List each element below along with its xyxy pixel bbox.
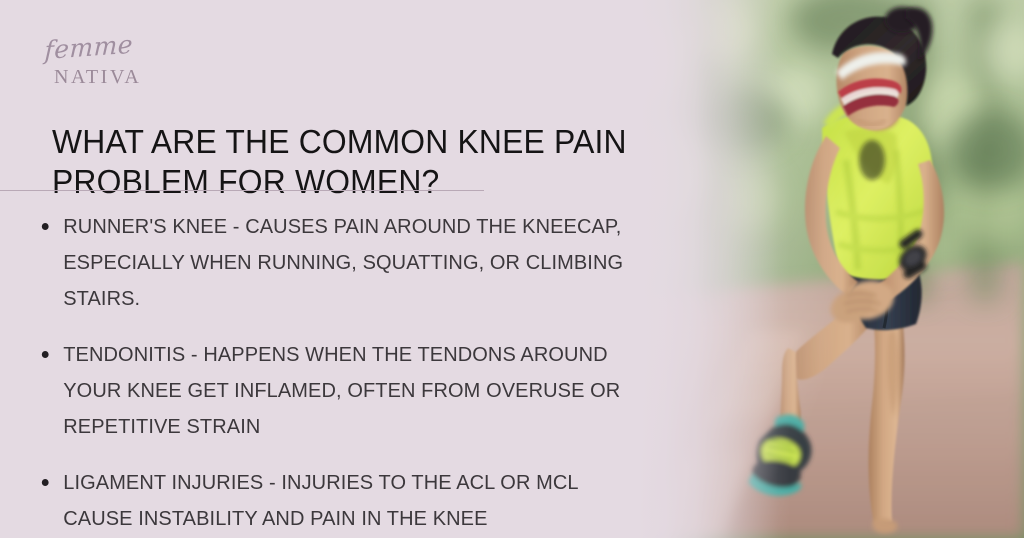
list-item: TENDONITIS - HAPPENS WHEN THE TENDONS AR… (34, 337, 639, 445)
infographic-canvas: femme NATIVA WHAT ARE THE COMMON KNEE PA… (0, 0, 1024, 538)
brand-logo: femme NATIVA (44, 36, 164, 94)
bullet-dot-icon (42, 479, 49, 486)
bullet-dot-icon (42, 351, 49, 358)
list-item-text: RUNNER'S KNEE - CAUSES PAIN AROUND THE K… (63, 215, 623, 310)
list-item-text: TENDONITIS - HAPPENS WHEN THE TENDONS AR… (63, 343, 620, 438)
list-item-text: LIGAMENT INJURIES - INJURIES TO THE ACL … (63, 471, 578, 530)
brand-logo-serif: NATIVA (54, 66, 141, 89)
title-divider (0, 190, 484, 191)
runner-photo-illustration (600, 0, 1024, 538)
list-item: RUNNER'S KNEE - CAUSES PAIN AROUND THE K… (34, 209, 639, 317)
brand-logo-script: femme (44, 30, 134, 65)
list-item: LIGAMENT INJURIES - INJURIES TO THE ACL … (34, 465, 639, 537)
bullet-dot-icon (42, 223, 49, 230)
knee-pain-list: RUNNER'S KNEE - CAUSES PAIN AROUND THE K… (34, 209, 654, 537)
runner-photo (600, 0, 1024, 538)
content-panel: femme NATIVA WHAT ARE THE COMMON KNEE PA… (0, 0, 660, 538)
